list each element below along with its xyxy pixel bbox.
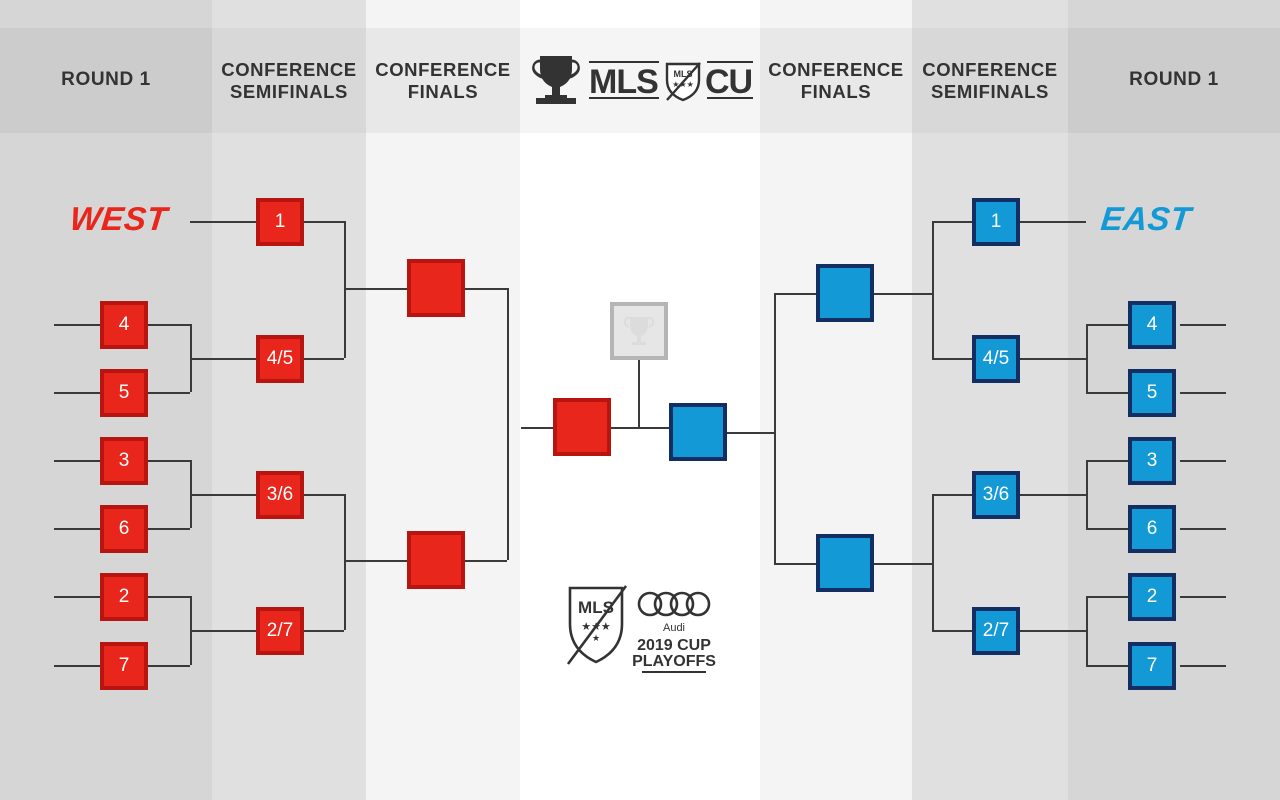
connector-stub-west <box>54 665 100 667</box>
svg-text:CUP: CUP <box>705 63 753 101</box>
connector-pair-east <box>1086 324 1128 326</box>
connector-semi-east <box>932 494 972 496</box>
seed-box-west-round1-2[interactable]: 2 <box>100 573 148 621</box>
connector-stub-west <box>54 460 100 462</box>
mls-shield-icon: MLS ★★★ <box>667 63 700 100</box>
connector-stub-west-seed1 <box>190 221 256 223</box>
connector-stub-east <box>1180 528 1226 530</box>
connector-pair-east <box>1086 528 1128 530</box>
connector-stub-west <box>54 596 100 598</box>
connector-into-semi-east <box>1020 494 1086 496</box>
seed-box-east-round1-5[interactable]: 5 <box>1128 369 1176 417</box>
connector-cf-east <box>774 293 816 295</box>
seed-box-west-round1-3[interactable]: 3 <box>100 437 148 485</box>
connector-pair-west <box>148 528 190 530</box>
connector-stub-east <box>1180 392 1226 394</box>
cup-wordmark: CUP <box>705 61 753 101</box>
seed-box-east-round1-7[interactable]: 7 <box>1128 642 1176 690</box>
connector-stub-east <box>1180 460 1226 462</box>
connector-semi-west <box>304 494 344 496</box>
svg-text:MLS: MLS <box>589 63 658 101</box>
playoffs-line2: PLAYOFFS <box>632 653 716 670</box>
column-title-semis-west: CONFERENCESEMIFINALS <box>212 28 366 133</box>
seed-box-east-semifinal-1[interactable]: 4/5 <box>972 335 1020 383</box>
connector-pair-east <box>1086 665 1128 667</box>
connector-semi-west <box>304 221 344 223</box>
connector-stub-east <box>1180 596 1226 598</box>
connector-into-semi-west <box>190 494 256 496</box>
connector-final-center <box>611 427 669 429</box>
column-title-round1-west: ROUND 1 <box>0 28 212 133</box>
connector-semi-east <box>932 358 972 360</box>
connector-pair-east <box>1086 596 1128 598</box>
connector-pair-v-east <box>1086 596 1088 665</box>
connector-into-final-west <box>521 427 553 429</box>
seed-box-east-conference-final-1[interactable] <box>816 534 874 592</box>
seed-box-east-round1-2[interactable]: 2 <box>1128 573 1176 621</box>
seed-box-west-conference-final-0[interactable] <box>407 259 465 317</box>
seed-box-west-round1-5[interactable]: 5 <box>100 369 148 417</box>
column-title-semis-east: CONFERENCESEMIFINALS <box>912 28 1068 133</box>
mls-cup-logo: MLS MLS ★★★ CUP <box>527 52 753 108</box>
seed-box-east-semifinal-2[interactable]: 3/6 <box>972 471 1020 519</box>
seed-box-east-round1-6[interactable]: 6 <box>1128 505 1176 553</box>
connector-pair-v-east <box>1086 460 1088 528</box>
playoffs-line1: 2019 CUP <box>637 637 711 654</box>
connector-stub-east <box>1180 324 1226 326</box>
seed-box-west-semifinal-2[interactable]: 3/6 <box>256 471 304 519</box>
connector-into-final-east <box>727 432 774 434</box>
bracket-canvas: ROUND 1CONFERENCESEMIFINALSCONFERENCEFIN… <box>0 0 1280 800</box>
seed-box-west-finalist[interactable] <box>553 398 611 456</box>
seed-box-east-semifinal-3[interactable]: 2/7 <box>972 607 1020 655</box>
conference-label-west: WEST <box>68 200 169 238</box>
connector-semi-east <box>932 630 972 632</box>
connector-semi-v-west <box>344 494 346 630</box>
connector-cf-east <box>774 563 816 565</box>
connector-semi-west <box>304 358 344 360</box>
seed-box-west-semifinal-1[interactable]: 4/5 <box>256 335 304 383</box>
champion-box[interactable] <box>610 302 668 360</box>
connector-pair-west <box>148 460 190 462</box>
svg-text:★: ★ <box>592 633 600 643</box>
connector-cf-v-east <box>774 293 776 563</box>
seed-box-east-semifinal-0[interactable]: 1 <box>972 198 1020 246</box>
trophy-icon <box>532 56 580 104</box>
connector-into-semi-east <box>1020 630 1086 632</box>
column-title-round1-east: ROUND 1 <box>1068 28 1280 133</box>
conference-label-east: EAST <box>1099 200 1193 238</box>
connector-pair-east <box>1086 392 1128 394</box>
connector-pair-east <box>1086 460 1128 462</box>
connector-into-cf-east <box>874 563 932 565</box>
seed-box-west-semifinal-0[interactable]: 1 <box>256 198 304 246</box>
connector-semi-west <box>304 630 344 632</box>
connector-cf-west <box>465 560 507 562</box>
audi-playoffs-logo: MLS ★★★ ★ Audi 2019 CUP PLAYOFFS <box>558 580 722 676</box>
connector-cf-west <box>465 288 507 290</box>
connector-pair-west <box>148 665 190 667</box>
seed-box-west-round1-7[interactable]: 7 <box>100 642 148 690</box>
column-title-finals-east: CONFERENCEFINALS <box>760 28 912 133</box>
connector-into-semi-west <box>190 358 256 360</box>
seed-box-east-round1-4[interactable]: 4 <box>1128 301 1176 349</box>
connector-stub-west <box>54 324 100 326</box>
connector-stub-west <box>54 392 100 394</box>
trophy-icon <box>624 314 654 348</box>
connector-into-semi-east <box>1020 358 1086 360</box>
connector-champion-stem <box>638 360 640 427</box>
mls-wordmark: MLS <box>589 61 659 101</box>
column-title-finals-west: CONFERENCEFINALS <box>366 28 520 133</box>
mls-shield-icon: MLS ★★★ ★ <box>568 586 626 664</box>
connector-stub-west <box>54 528 100 530</box>
connector-cf-v-west <box>507 288 509 560</box>
seed-box-west-semifinal-3[interactable]: 2/7 <box>256 607 304 655</box>
connector-semi-east <box>932 221 972 223</box>
connector-pair-v-east <box>1086 324 1088 392</box>
seed-box-east-round1-3[interactable]: 3 <box>1128 437 1176 485</box>
connector-into-semi-west <box>190 630 256 632</box>
seed-box-west-conference-final-1[interactable] <box>407 531 465 589</box>
connector-pair-west <box>148 596 190 598</box>
seed-box-west-round1-4[interactable]: 4 <box>100 301 148 349</box>
connector-stub-east <box>1180 665 1226 667</box>
connector-semi-v-east <box>932 494 934 630</box>
audi-brand-text: Audi <box>663 622 685 634</box>
connector-pair-west <box>148 392 190 394</box>
seed-box-east-conference-final-0[interactable] <box>816 264 874 322</box>
connector-semi-v-east <box>932 221 934 358</box>
connector-into-cf-west <box>344 288 407 290</box>
connector-into-cf-west <box>344 560 407 562</box>
connector-pair-west <box>148 324 190 326</box>
seed-box-west-round1-6[interactable]: 6 <box>100 505 148 553</box>
seed-box-east-finalist[interactable] <box>669 403 727 461</box>
connector-into-cf-east <box>874 293 932 295</box>
audi-rings-icon <box>639 593 709 615</box>
connector-stub-east-seed1 <box>1020 221 1086 223</box>
